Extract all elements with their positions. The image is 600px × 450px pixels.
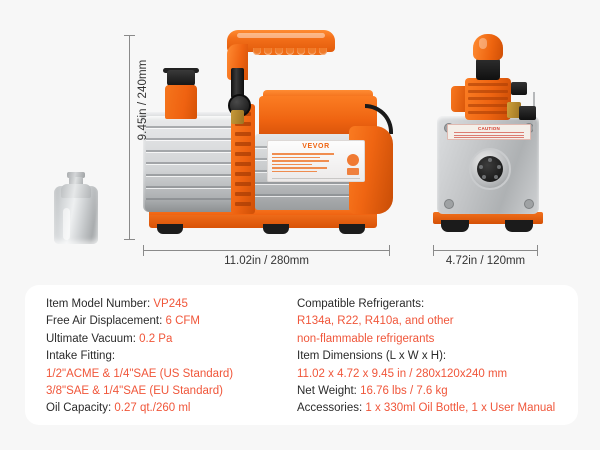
spec-line: Accessories: 1 x 330ml Oil Bottle, 1 x U… bbox=[297, 400, 565, 417]
vacuum-pump-front-view: CAUTION bbox=[433, 30, 543, 245]
pump2-valve-upper bbox=[511, 82, 527, 95]
spec-value: 1 x 330ml Oil Bottle, 1 x User Manual bbox=[365, 402, 555, 414]
brand-label: VEVOR bbox=[268, 143, 364, 150]
spec-label: Ultimate Vacuum: bbox=[46, 333, 139, 345]
handle-finger-grooves bbox=[253, 48, 327, 55]
spec-label: Item Dimensions (L x W x H): bbox=[297, 350, 446, 362]
caution-label: CAUTION bbox=[447, 124, 531, 140]
spec-label: Net Weight: bbox=[297, 385, 360, 397]
spec-line: 3/8"SAE & 1/4"SAE (EU Standard) bbox=[46, 383, 296, 400]
pump-foot bbox=[263, 224, 289, 234]
oil-fill-port bbox=[165, 85, 197, 119]
vacuum-pump-side-view: VEVOR bbox=[143, 30, 393, 245]
oil-port-cap bbox=[167, 70, 195, 86]
width-dimension-line bbox=[143, 250, 390, 251]
spec-line: 1/2"ACME & 1/4"SAE (US Standard) bbox=[46, 366, 296, 383]
caution-label-title: CAUTION bbox=[448, 126, 530, 131]
pump2-carry-handle[interactable] bbox=[473, 34, 503, 60]
spec-line: Ultimate Vacuum: 0.2 Pa bbox=[46, 331, 296, 348]
spec-line: Oil Capacity: 0.27 qt./260 ml bbox=[46, 400, 296, 417]
spec-value: 1/2"ACME & 1/4"SAE (US Standard) bbox=[46, 368, 233, 380]
pump2-foot bbox=[505, 220, 533, 232]
pump-foot bbox=[157, 224, 183, 234]
spec-value: R134a, R22, R410a, and other bbox=[297, 315, 454, 327]
spec-label: Intake Fitting: bbox=[46, 350, 115, 362]
spec-value: non-flammable refrigerants bbox=[297, 333, 434, 345]
nameplate-footer-line bbox=[272, 178, 360, 180]
spec-column-left: Item Model Number: VP245Free Air Displac… bbox=[46, 296, 296, 418]
spec-line: Net Weight: 16.76 lbs / 7.6 kg bbox=[297, 383, 565, 400]
fcc-icon bbox=[347, 168, 359, 175]
depth-dimension-line bbox=[433, 250, 538, 251]
spec-line: Intake Fitting: bbox=[46, 348, 296, 365]
oil-sight-glass bbox=[469, 148, 511, 190]
spec-line: R134a, R22, R410a, and other bbox=[297, 313, 565, 330]
spec-line: non-flammable refrigerants bbox=[297, 331, 565, 348]
brass-fitting bbox=[231, 110, 244, 124]
spec-line: Compatible Refrigerants: bbox=[297, 296, 565, 313]
spec-line: Free Air Displacement: 6 CFM bbox=[46, 313, 296, 330]
product-photo-area: VEVOR CAUTION bbox=[0, 0, 600, 282]
spec-line: 11.02 x 4.72 x 9.45 in / 280x120x240 mm bbox=[297, 366, 565, 383]
spec-value: 11.02 x 4.72 x 9.45 in / 280x120x240 mm bbox=[297, 368, 507, 380]
pump-foot bbox=[339, 224, 365, 234]
pump2-valve-lower bbox=[519, 106, 536, 120]
spec-label: Compatible Refrigerants: bbox=[297, 298, 424, 310]
specifications-card: Item Model Number: VP245Free Air Displac… bbox=[25, 285, 578, 425]
nameplate-spec-lines bbox=[272, 153, 334, 174]
spec-label: Oil Capacity: bbox=[46, 402, 114, 414]
bottle-shoulder bbox=[61, 184, 91, 198]
pump-cylinder-body bbox=[143, 116, 235, 212]
spec-value: VP245 bbox=[153, 298, 188, 310]
product-spec-sheet: VEVOR CAUTION bbox=[0, 0, 600, 450]
width-dimension-label: 11.02in / 280mm bbox=[143, 255, 390, 267]
pump2-top-cap bbox=[465, 78, 511, 120]
spec-value: 0.2 Pa bbox=[139, 333, 172, 345]
pump2-foot bbox=[441, 220, 469, 232]
pump2-valve-knob[interactable] bbox=[476, 58, 500, 80]
spec-value: 6 CFM bbox=[166, 315, 201, 327]
spec-label: Free Air Displacement: bbox=[46, 315, 166, 327]
depth-dimension-label: 4.72in / 120mm bbox=[423, 255, 548, 267]
pump-body-foot bbox=[145, 200, 235, 212]
spec-label: Accessories: bbox=[297, 402, 365, 414]
vevor-nameplate: VEVOR bbox=[267, 140, 365, 182]
certification-icon bbox=[347, 154, 359, 166]
oil-bottle-image bbox=[54, 172, 98, 244]
spec-line: Item Model Number: VP245 bbox=[46, 296, 296, 313]
spec-value: 0.27 qt./260 ml bbox=[114, 402, 190, 414]
spec-line: Item Dimensions (L x W x H): bbox=[297, 348, 565, 365]
bottle-highlight bbox=[63, 208, 70, 240]
spec-value: 3/8"SAE & 1/4"SAE (EU Standard) bbox=[46, 385, 223, 397]
spec-column-right: Compatible Refrigerants:R134a, R22, R410… bbox=[297, 296, 565, 418]
spec-value: 16.76 lbs / 7.6 kg bbox=[360, 385, 448, 397]
sight-glass-center bbox=[477, 156, 503, 182]
height-dimension-label: 9.45in / 240mm bbox=[137, 55, 149, 145]
spec-label: Item Model Number: bbox=[46, 298, 153, 310]
height-dimension-line bbox=[129, 35, 130, 240]
